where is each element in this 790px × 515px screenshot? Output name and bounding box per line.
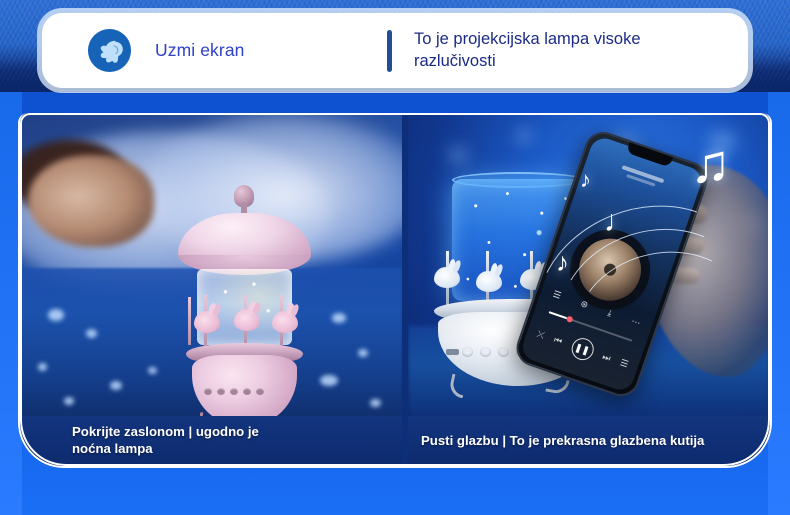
lamp-button: [243, 388, 251, 395]
music-note-icon: ♩: [604, 205, 634, 239]
star-sparkle: [110, 381, 122, 390]
brand-label: Uzmi ekran: [155, 40, 245, 61]
bokeh-light: [448, 147, 468, 163]
panel-night-lamp[interactable]: Pokrijte zaslonom | ugodno je noćna lamp…: [20, 113, 402, 466]
music-box-photo: ☰ ⊛ ⤓ ⋯ ⤫ ⏮ ❚❚ ⏭: [408, 113, 770, 418]
carousel-pole: [188, 297, 191, 345]
star-sparkle: [320, 375, 338, 386]
lamp-body: [192, 355, 297, 418]
pink-carousel-lamp: [172, 185, 317, 410]
bunny-figure: [234, 309, 260, 331]
lamp-button: [480, 347, 491, 357]
bunny-figure: [434, 267, 460, 288]
music-box-caption-bar: Pusti glazbu | To je prekrasna glazbena …: [408, 416, 770, 466]
music-scene: ☰ ⊛ ⤓ ⋯ ⤫ ⏮ ❚❚ ⏭: [408, 113, 770, 418]
media-card: Pokrijte zaslonom | ugodno je noćna lamp…: [18, 113, 772, 468]
brand-block: Uzmi ekran: [42, 27, 387, 74]
header-divider: [387, 30, 392, 72]
lamp-button: [498, 347, 509, 357]
star-sparkle: [148, 367, 157, 374]
music-note-icon: ♪: [556, 247, 569, 278]
panel-music-box[interactable]: ☰ ⊛ ⤓ ⋯ ⤫ ⏮ ❚❚ ⏭: [408, 113, 770, 466]
lamp-button: [217, 388, 225, 395]
caption-line-2: noćna lampa: [72, 441, 259, 458]
headline-text: To je projekcijska lampa visoke razlučiv…: [414, 29, 726, 73]
lamp-button: [256, 388, 264, 395]
star-sparkle: [64, 397, 74, 405]
lamp-button: [230, 388, 238, 395]
lamp-leg: [545, 377, 569, 396]
music-box-caption: Pusti glazbu | To je prekrasna glazbena …: [408, 433, 704, 450]
caption-line-1: Pusti glazbu | To je prekrasna glazbena …: [421, 433, 704, 450]
header-banner: Uzmi ekran To je projekcijska lampa viso…: [42, 13, 748, 88]
star-sparkle: [48, 309, 64, 321]
caption-line-1: Pokrijte zaslonom | ugodno je: [72, 424, 259, 441]
star-sparkle: [38, 363, 47, 371]
usb-port: [446, 349, 459, 355]
star-sparkle: [332, 313, 346, 323]
promo-page: Uzmi ekran To je projekcijska lampa viso…: [0, 0, 790, 515]
panes-row: Pokrijte zaslonom | ugodno je noćna lamp…: [20, 113, 770, 466]
star-sparkle: [358, 349, 368, 357]
star-sparkle: [370, 399, 381, 407]
lamp-button: [204, 388, 212, 395]
music-note-icon: ♫: [690, 133, 731, 195]
lamp-button: [462, 347, 473, 357]
night-lamp-caption: Pokrijte zaslonom | ugodno je noćna lamp…: [20, 424, 259, 458]
bunny-figure: [194, 311, 220, 333]
night-lamp-caption-bar: Pokrijte zaslonom | ugodno je noćna lamp…: [20, 416, 402, 466]
bokeh-light: [516, 129, 532, 143]
bunny-figure: [476, 271, 502, 292]
star-sparkle: [86, 329, 97, 338]
night-lamp-photo: [20, 113, 402, 418]
lamp-button-row: [204, 388, 264, 395]
sleeping-child: [28, 155, 154, 247]
bunny-figure: [272, 311, 298, 333]
night-scene: [20, 113, 402, 418]
hand-grab-icon: [86, 27, 133, 74]
music-note-icon: ♪: [580, 167, 591, 193]
